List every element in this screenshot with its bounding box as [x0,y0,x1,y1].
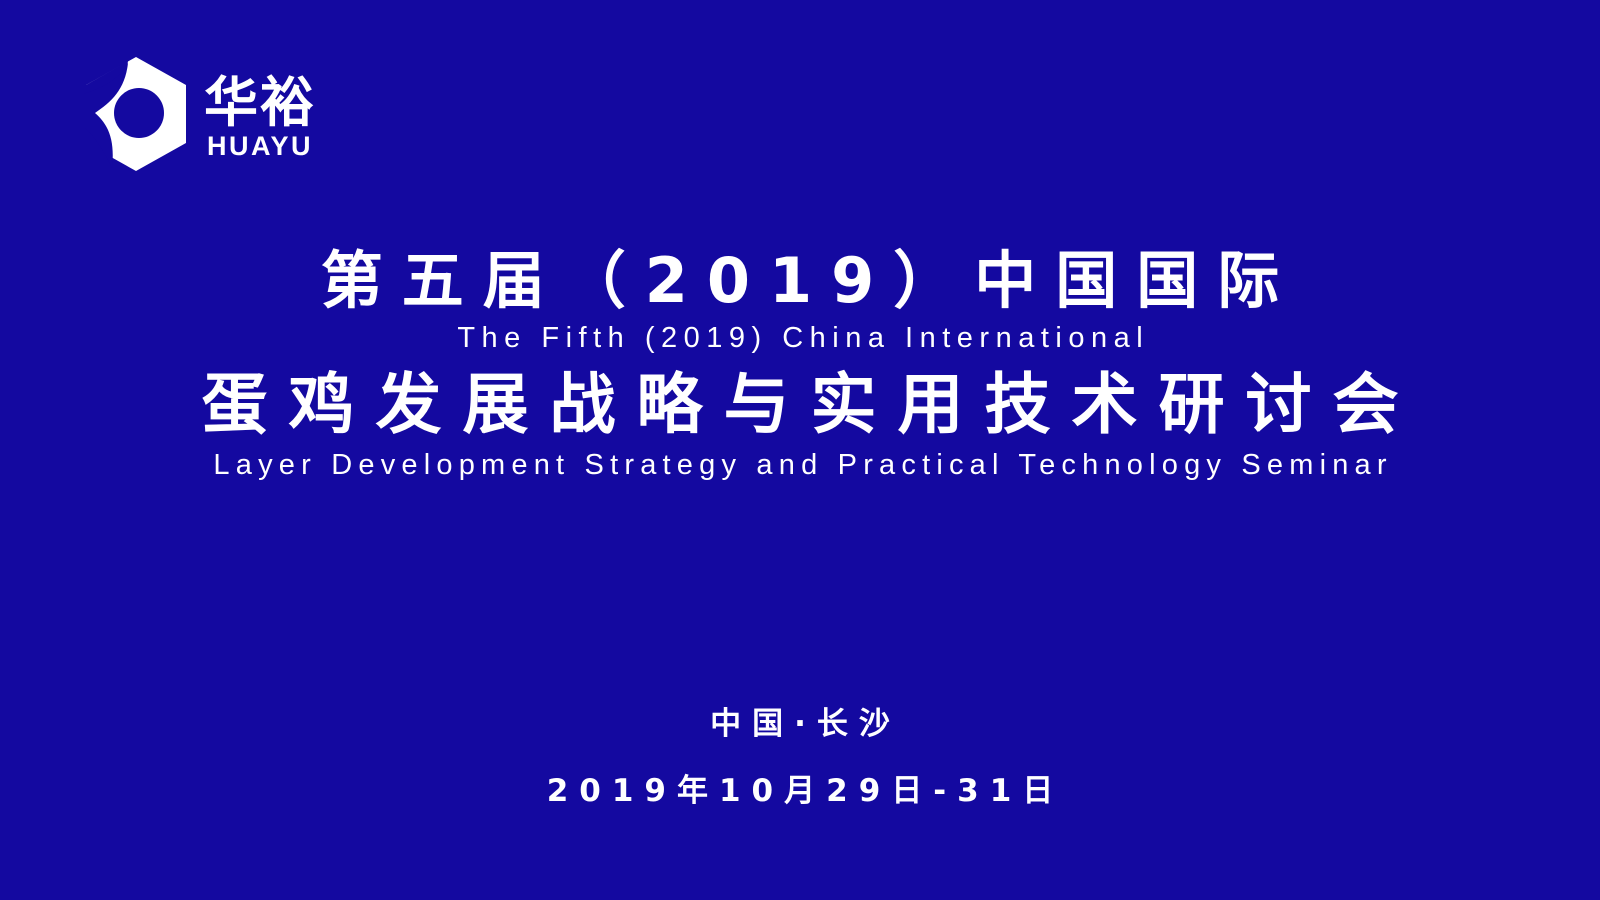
event-date: 2019年10月29日-31日 [0,772,1600,811]
event-details-block: 中国·长沙 2019年10月29日-31日 [0,705,1600,811]
brand-logo: 华裕 HUAYU [84,55,316,173]
event-title-block: 第五届（2019）中国国际 The Fifth (2019) China Int… [0,246,1600,483]
huayu-hexagon-swirl-logo [84,55,188,173]
event-title-line1-cn: 第五届（2019）中国国际 [0,246,1600,315]
conference-banner: 华裕 HUAYU 第五届（2019）中国国际 The Fifth (2019) … [0,0,1600,900]
event-location: 中国·长沙 [0,705,1600,744]
brand-name-en: HUAYU [204,132,316,162]
brand-wordmark: 华裕 HUAYU [204,67,316,162]
brand-name-cn: 华裕 [204,75,316,130]
event-title-line2-en: Layer Development Strategy and Practical… [0,448,1600,483]
event-title-line2-cn: 蛋鸡发展战略与实用技术研讨会 [0,368,1600,442]
event-title-line1-en: The Fifth (2019) China International [0,321,1600,356]
